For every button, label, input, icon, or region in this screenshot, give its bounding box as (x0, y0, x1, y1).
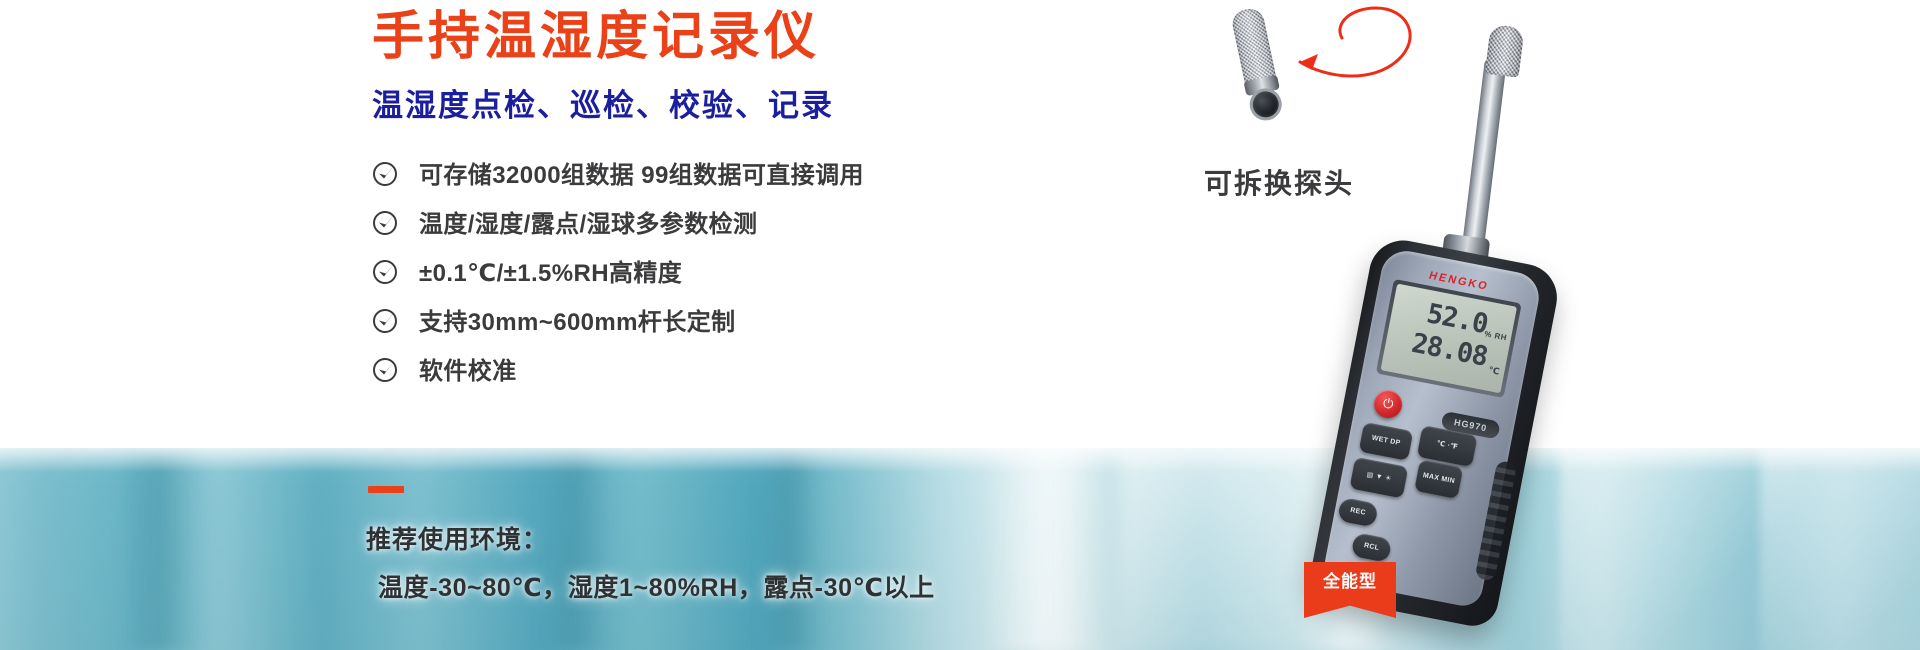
list-item: 软件校准 (372, 344, 1172, 393)
background-shadow-streak (760, 448, 820, 650)
list-item: 温度/湿度/露点/湿球多参数检测 (372, 197, 1172, 246)
feature-text: 支持30mm~600mm杆长定制 (419, 302, 736, 337)
background-shadow-streak (540, 448, 610, 650)
environment-detail: 温度-30~80℃，湿度1~80%RH，露点-30℃以上 (378, 568, 935, 604)
product-image-meter: HENGKO 52.0 % RH 28.08 ℃ ⏻ HG970 WET DP … (1252, 30, 1652, 630)
lcd-temperature-unit: ℃ (1488, 365, 1501, 378)
page-subtitle: 温湿度点检、巡检、校验、记录 (372, 80, 834, 125)
background-shadow-streak (120, 448, 200, 650)
environment-title: 推荐使用环境： (366, 520, 548, 556)
probe-stem (1461, 59, 1507, 256)
feature-text: ±0.1℃/±1.5%RH高精度 (419, 253, 682, 288)
list-item: 可存储32000组数据 99组数据可直接调用 (372, 148, 1172, 197)
feature-text: 软件校准 (419, 351, 517, 386)
background-highlight-streak (980, 448, 1100, 650)
lcd-screen: 52.0 % RH 28.08 ℃ (1381, 284, 1518, 394)
check-circle-icon (372, 257, 400, 285)
background-diagonal-glare (1760, 448, 1920, 650)
page-title: 手持温湿度记录仪 (372, 6, 820, 69)
check-circle-icon (372, 306, 400, 334)
probe-tip-mesh (1485, 24, 1525, 78)
list-item: 支持30mm~600mm杆长定制 (372, 295, 1172, 344)
check-circle-icon (372, 159, 400, 187)
list-item: ±0.1℃/±1.5%RH高精度 (372, 246, 1172, 295)
lcd-humidity-unit: % RH (1484, 329, 1508, 342)
accent-dash (368, 486, 404, 493)
product-banner: 手持温湿度记录仪 温湿度点检、巡检、校验、记录 可存储32000组数据 99组数… (0, 0, 1920, 650)
feature-text: 可存储32000组数据 99组数据可直接调用 (419, 155, 864, 190)
feature-text: 温度/湿度/露点/湿球多参数检测 (419, 204, 757, 239)
check-circle-icon (372, 355, 400, 383)
check-circle-icon (372, 208, 400, 236)
feature-list: 可存储32000组数据 99组数据可直接调用 温度/湿度/露点/湿球多参数检测 … (372, 148, 1172, 393)
